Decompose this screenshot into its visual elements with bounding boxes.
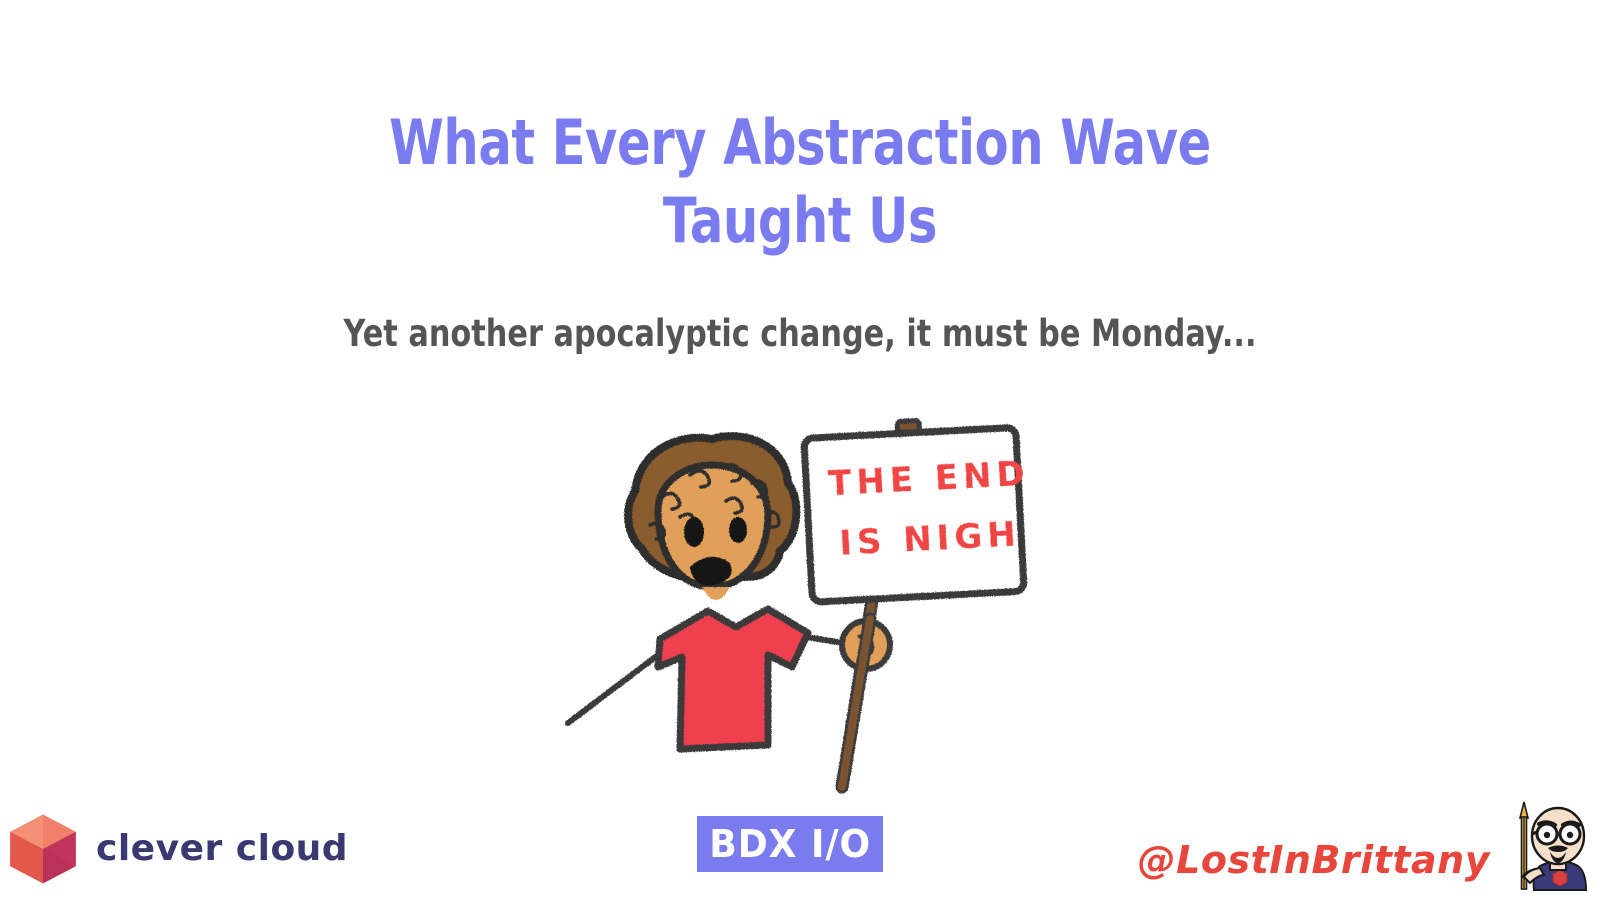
bdxio-badge: BDX I/O: [697, 816, 883, 872]
illustration-doodle-person: THE END IS NIGH: [540, 405, 1060, 805]
lostinbrittany-avatar-icon: [1500, 792, 1596, 892]
character-head: [628, 436, 796, 587]
clever-cloud-hexagon-icon: [4, 810, 82, 888]
protest-sign: [803, 415, 1024, 602]
speaker-handle: @LostInBrittany: [1138, 834, 1490, 892]
page-title: What Every Abstraction Wave Taught Us: [160, 104, 1440, 260]
slide-root: What Every Abstraction Wave Taught Us Ye…: [0, 0, 1600, 900]
speaker-credit: @LostInBrittany: [1138, 792, 1596, 892]
bdxio-badge-label: BDX I/O: [709, 823, 871, 865]
character-shirt: [658, 587, 808, 749]
subtitle-block: Yet another apocalyptic change, it must …: [0, 310, 1600, 358]
clever-cloud-logo: clever cloud: [4, 810, 348, 888]
clever-cloud-wordmark: clever cloud: [96, 829, 348, 869]
title-block: What Every Abstraction Wave Taught Us: [0, 104, 1600, 260]
page-subtitle: Yet another apocalyptic change, it must …: [144, 310, 1456, 358]
character-left-arm: [568, 655, 658, 723]
